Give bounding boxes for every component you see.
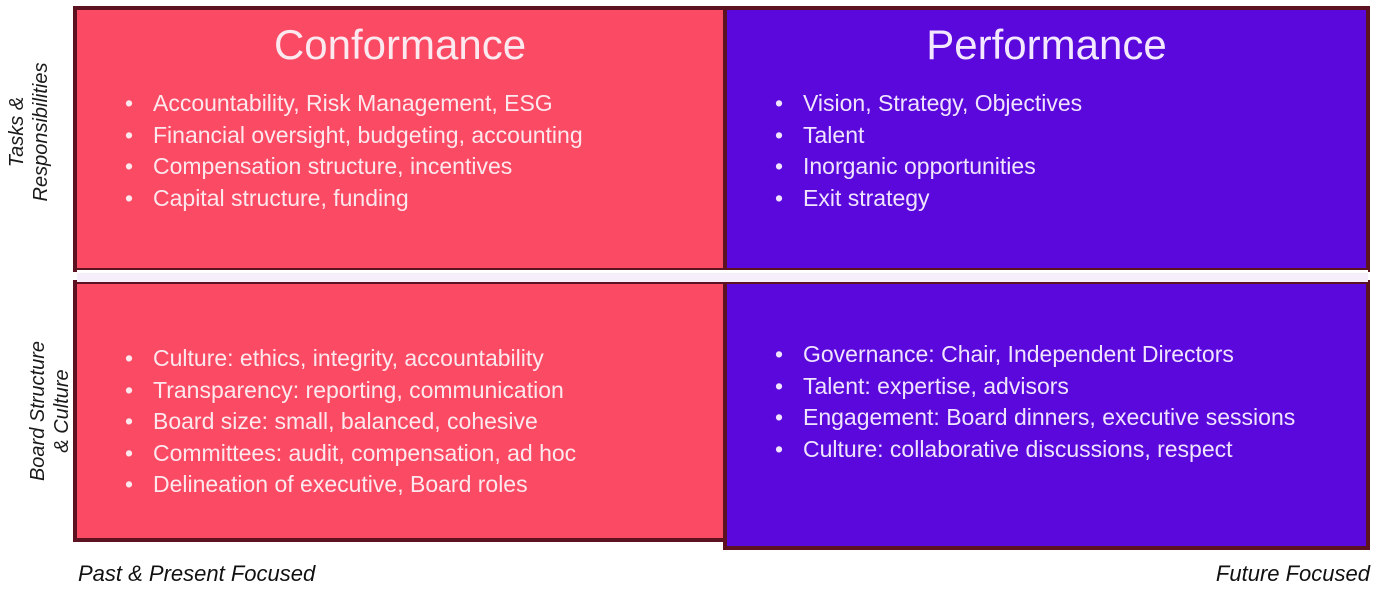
list-item-label: Capital structure, funding (153, 185, 409, 211)
bullet-icon: • (125, 343, 133, 375)
quadrant-conformance-board-structure[interactable]: • Culture: ethics, integrity, accountabi… (73, 280, 727, 542)
bullet-list: • Accountability, Risk Management, ESG •… (109, 88, 723, 214)
quadrant-grid: Conformance • Accountability, Risk Manag… (73, 6, 1370, 546)
list-item: • Compensation structure, incentives (109, 151, 723, 183)
list-item-label: Inorganic opportunities (803, 153, 1036, 179)
bullet-icon: • (775, 120, 783, 152)
list-item-label: Exit strategy (803, 185, 930, 211)
list-item: • Exit strategy (759, 183, 1366, 215)
list-item: • Culture: ethics, integrity, accountabi… (109, 343, 723, 375)
bullet-icon: • (775, 434, 783, 466)
quadrant-title-performance: Performance (727, 10, 1366, 66)
list-item-label: Talent (803, 122, 864, 148)
list-item-label: Talent: expertise, advisors (803, 373, 1069, 399)
list-item-label: Transparency: reporting, communication (153, 377, 564, 403)
quadrant-conformance-tasks[interactable]: Conformance • Accountability, Risk Manag… (73, 6, 727, 272)
bullet-icon: • (775, 402, 783, 434)
bullet-icon: • (125, 183, 133, 215)
list-item: • Committees: audit, compensation, ad ho… (109, 438, 723, 470)
bullet-icon: • (775, 339, 783, 371)
list-item: • Capital structure, funding (109, 183, 723, 215)
list-item: • Talent: expertise, advisors (759, 371, 1366, 403)
row-axis-label-tasks-responsibilities: Tasks & Responsibilities (6, 37, 58, 227)
list-item-label: Board size: small, balanced, cohesive (153, 408, 538, 434)
column-footer-future-focused: Future Focused (1216, 563, 1370, 585)
list-item: • Governance: Chair, Independent Directo… (759, 339, 1366, 371)
bullet-icon: • (125, 438, 133, 470)
quadrant-title-conformance: Conformance (77, 10, 723, 66)
quadrant-content: • Governance: Chair, Independent Directo… (727, 284, 1366, 465)
list-item: • Inorganic opportunities (759, 151, 1366, 183)
column-footer-past-present-focused: Past & Present Focused (78, 563, 315, 585)
bullet-icon: • (125, 375, 133, 407)
bullet-icon: • (125, 120, 133, 152)
list-item: • Delineation of executive, Board roles (109, 469, 723, 501)
quadrant-performance-board-structure[interactable]: • Governance: Chair, Independent Directo… (723, 280, 1370, 550)
bullet-icon: • (125, 469, 133, 501)
list-item-label: Compensation structure, incentives (153, 153, 512, 179)
bullet-list: • Vision, Strategy, Objectives • Talent … (759, 88, 1366, 214)
bullet-list: • Culture: ethics, integrity, accountabi… (109, 343, 723, 501)
list-item-label: Culture: collaborative discussions, resp… (803, 436, 1233, 462)
quadrant-performance-tasks[interactable]: Performance • Vision, Strategy, Objectiv… (723, 6, 1370, 272)
quadrant-content: Conformance • Accountability, Risk Manag… (77, 10, 723, 214)
row-axis-label-board-structure-culture: Board Structure & Culture (27, 296, 79, 526)
bullet-icon: • (775, 371, 783, 403)
list-item-label: Accountability, Risk Management, ESG (153, 90, 553, 116)
list-item: • Accountability, Risk Management, ESG (109, 88, 723, 120)
list-item: • Vision, Strategy, Objectives (759, 88, 1366, 120)
list-item: • Engagement: Board dinners, executive s… (759, 402, 1366, 434)
quadrant-content: • Culture: ethics, integrity, accountabi… (77, 284, 723, 501)
row-divider (77, 270, 1368, 282)
quadrant-content: Performance • Vision, Strategy, Objectiv… (727, 10, 1366, 214)
bullet-icon: • (125, 88, 133, 120)
list-item-label: Financial oversight, budgeting, accounti… (153, 122, 583, 148)
list-item-label: Committees: audit, compensation, ad hoc (153, 440, 576, 466)
list-item-label: Engagement: Board dinners, executive ses… (803, 404, 1295, 430)
list-item-label: Governance: Chair, Independent Directors (803, 341, 1234, 367)
bullet-icon: • (125, 406, 133, 438)
list-item: • Culture: collaborative discussions, re… (759, 434, 1366, 466)
list-item: • Talent (759, 120, 1366, 152)
list-item: • Board size: small, balanced, cohesive (109, 406, 723, 438)
bullet-icon: • (125, 151, 133, 183)
bullet-icon: • (775, 151, 783, 183)
bullet-icon: • (775, 88, 783, 120)
bullet-list: • Governance: Chair, Independent Directo… (759, 339, 1366, 465)
list-item-label: Vision, Strategy, Objectives (803, 90, 1082, 116)
matrix-diagram: Tasks & Responsibilities Board Structure… (0, 0, 1378, 612)
list-item: • Financial oversight, budgeting, accoun… (109, 120, 723, 152)
list-item-label: Delineation of executive, Board roles (153, 471, 528, 497)
list-item: • Transparency: reporting, communication (109, 375, 723, 407)
bullet-icon: • (775, 183, 783, 215)
list-item-label: Culture: ethics, integrity, accountabili… (153, 345, 544, 371)
